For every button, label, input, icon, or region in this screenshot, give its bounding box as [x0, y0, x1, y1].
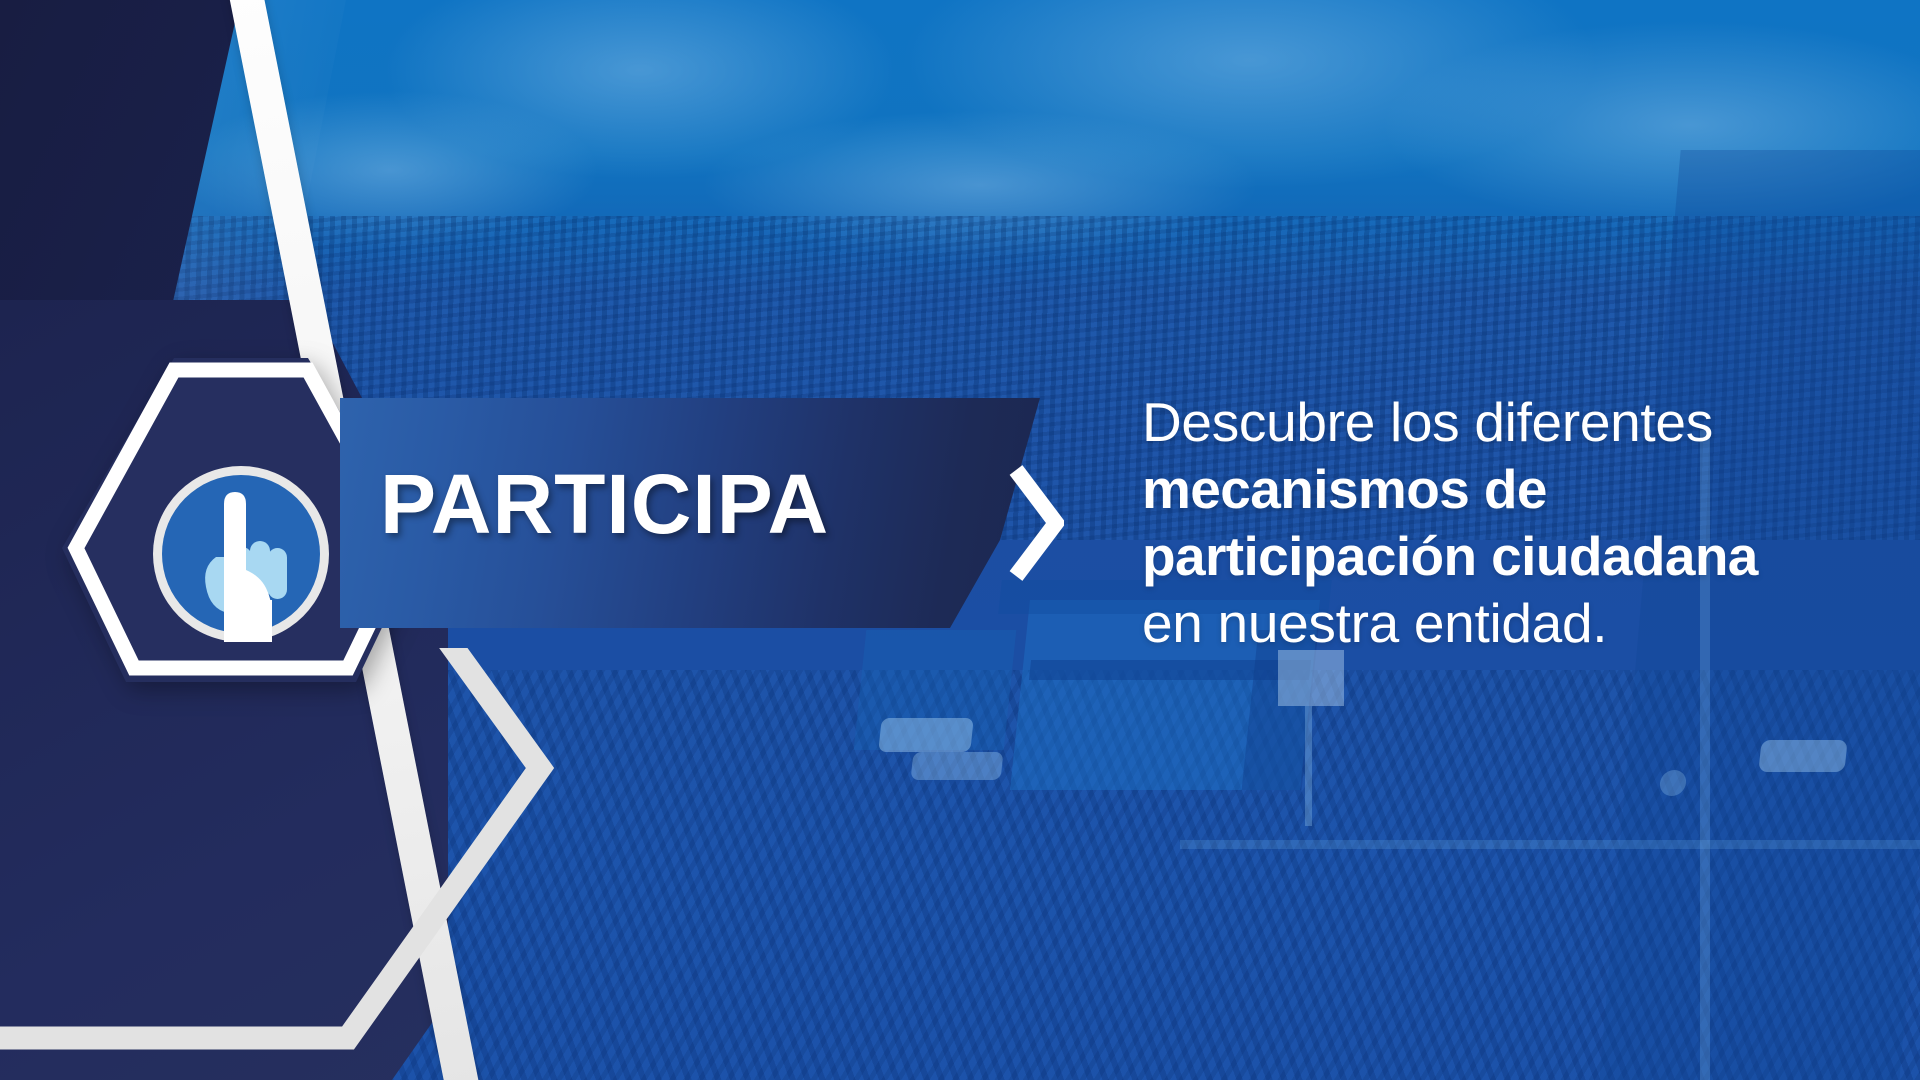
sign-post [1305, 706, 1312, 826]
cloud-shape [900, 0, 1600, 190]
description-line-2: mecanismos de [1142, 462, 1862, 517]
page-title: PARTICIPA [380, 462, 829, 546]
description-line-1: Descubre los diferentes [1142, 395, 1862, 450]
vehicle-shape [911, 752, 1004, 780]
chevron-right-icon [1008, 462, 1064, 584]
banner-canvas: PARTICIPA Descubre los diferentes mecani… [0, 0, 1920, 1080]
description-text-block: Descubre los diferentes mecanismos de pa… [1142, 395, 1862, 651]
vehicle-shape [878, 718, 974, 752]
description-line-4: en nuestra entidad. [1142, 596, 1862, 651]
vehicle-shape [1758, 740, 1847, 772]
description-line-3: participación ciudadana [1142, 529, 1862, 584]
traffic-sign [1278, 650, 1344, 706]
cloud-shape [380, 0, 900, 180]
road-line [1180, 840, 1920, 849]
